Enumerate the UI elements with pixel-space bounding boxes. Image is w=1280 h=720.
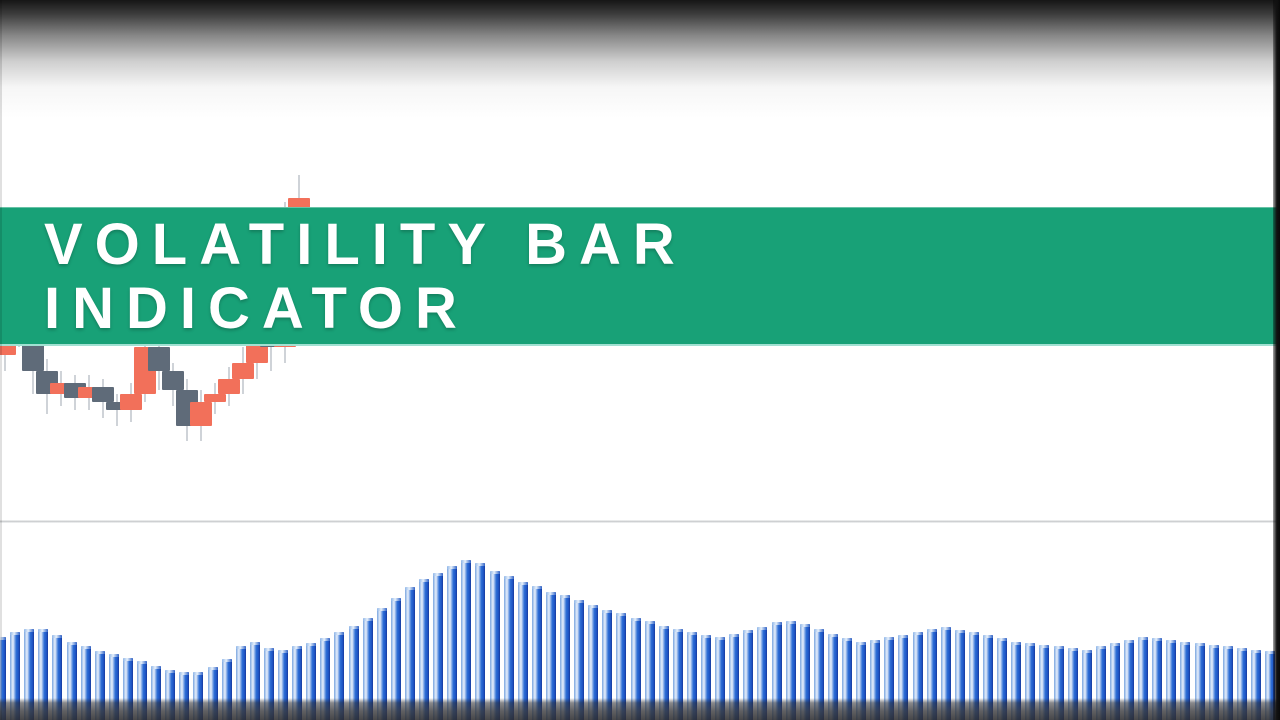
volatility-bar-cap [1068,648,1078,651]
volatility-bar [532,586,542,720]
volatility-bar [518,582,528,720]
volatility-bar-cap [137,661,147,664]
volatility-bar-cap [38,629,48,632]
volatility-bar [983,635,993,720]
volatility-bar-cap [1011,642,1021,645]
volatility-bar-cap [1251,650,1261,653]
volatility-bar-cap [504,576,514,579]
volatility-bar [701,635,711,720]
volatility-bar [222,659,232,720]
volatility-bar-cap [602,610,612,613]
volatility-bar-cap [673,629,683,632]
volatility-bar [772,622,782,720]
volatility-bar [109,654,119,720]
volatility-bar [504,576,514,720]
volatility-bar-cap [828,634,838,637]
volatility-bar [24,629,34,720]
volatility-bar-cap [1223,646,1233,649]
volatility-bar-cap [0,637,6,640]
volatility-bar-cap [1237,648,1247,651]
volatility-bar-cap [814,629,824,632]
volatility-bar-cap [560,595,570,598]
volatility-bar [786,621,796,720]
volatility-bar-cap [222,659,232,662]
volatility-bar [941,627,951,720]
volatility-bar [856,642,866,720]
volatility-bar [828,634,838,720]
volatility-bar-cap [842,638,852,641]
volatility-bar-cap [969,632,979,635]
volatility-bar [616,613,626,720]
volatility-bar [969,632,979,720]
volatility-bar [1082,650,1092,720]
volatility-bar-cap [927,629,937,632]
volatility-bar-cap [52,635,62,638]
volatility-bar-cap [1180,642,1190,645]
volatility-bar [193,672,203,720]
volatility-bar-cap [574,600,584,603]
volatility-bar [475,563,485,720]
volatility-bar-cap [264,648,274,651]
volatility-bar-cap [447,566,457,569]
volatility-bar [602,610,612,720]
volatility-bar-cap [743,630,753,633]
volatility-bar [1180,642,1190,720]
volatility-bar-cap [165,670,175,673]
volatility-bar-cap [645,621,655,624]
volatility-bar-cap [870,640,880,643]
volatility-bar [1011,642,1021,720]
volatility-bar [1110,643,1120,720]
volatility-bar [433,573,443,720]
volatility-bar [729,634,739,720]
volatility-bar [673,629,683,720]
volatility-bar [363,618,373,720]
volatility-bar-cap [772,622,782,625]
volatility-bar [208,667,218,720]
volatility-bar-cap [715,637,725,640]
volatility-bar [898,635,908,720]
volatility-bar-cap [306,643,316,646]
volatility-bar [461,560,471,720]
banner-bottom-hairline [0,344,1280,346]
volatility-bar-cap [363,618,373,621]
volatility-bar-cap [588,605,598,608]
volatility-bar [38,629,48,720]
volatility-bar [250,642,260,720]
volatility-bar [645,621,655,720]
volatility-bar [659,626,669,720]
volatility-bar [913,632,923,720]
volatility-bar-cap [687,632,697,635]
volatility-bar-cap [95,651,105,654]
volatility-bar-cap [757,627,767,630]
volatility-bar [137,661,147,720]
volatility-bar-cap [123,658,133,661]
volatility-bar-cap [1195,643,1205,646]
volatility-bar-cap [81,646,91,649]
volatility-bar [52,635,62,720]
volatility-bar [95,651,105,720]
volatility-bar [320,638,330,720]
volatility-bar-cap [1152,638,1162,641]
volatility-bar [306,643,316,720]
volatility-bar [1039,645,1049,720]
volatility-bar-cap [1025,643,1035,646]
volatility-bar-cap [1209,645,1219,648]
volatility-bar [955,630,965,720]
volatility-bar-cap [1039,645,1049,648]
volatility-bar-cap [1124,640,1134,643]
volatility-bar [391,598,401,720]
volatility-bar-cap [193,672,203,675]
volatility-bar [574,600,584,720]
volatility-bar-cap [546,592,556,595]
volatility-bar [927,629,937,720]
volatility-bar-cap [955,630,965,633]
volatility-bar [278,650,288,720]
volatility-bar [1166,640,1176,720]
volatility-bar-cap [236,646,246,649]
volatility-bar-cap [1166,640,1176,643]
volatility-bar [560,595,570,720]
volatility-bar-cap [518,582,528,585]
volatility-bar-cap [1138,637,1148,640]
volatility-bar [334,632,344,720]
volatility-bar [1251,650,1261,720]
volatility-bar [490,571,500,720]
volatility-bar [588,605,598,720]
volatility-bar [165,670,175,720]
volatility-bar-cap [278,650,288,653]
volatility-bar-cap [941,627,951,630]
title-banner: VOLATILITY BAR INDICATOR [0,207,1280,346]
volatility-bar-cap [856,642,866,645]
volatility-bar-cap [250,642,260,645]
volatility-bar [546,592,556,720]
banner-title-line-1: VOLATILITY BAR [44,216,1280,274]
volatility-bar [800,624,810,720]
volatility-bar-cap [1110,643,1120,646]
volatility-bar-cap [109,654,119,657]
volatility-bar-cap [461,560,471,563]
volatility-bar [0,637,6,720]
volatility-bar [1237,648,1247,720]
volatility-bar [1265,651,1275,720]
volatility-bar-cap [898,635,908,638]
volatility-bar-cap [616,613,626,616]
volatility-bar [814,629,824,720]
volatility-bar [419,579,429,720]
volatility-bar-cap [208,667,218,670]
volatility-bar-cap [334,632,344,635]
volatility-bar-cap [729,634,739,637]
volatility-bar-cap [292,646,302,649]
volatility-bar-cap [884,637,894,640]
volatility-bar [151,666,161,720]
volatility-bar-cap [67,642,77,645]
volatility-bar [687,632,697,720]
banner-title-line-2: INDICATOR [44,280,1280,338]
video-thumbnail-stage: VOLATILITY BAR INDICATOR [0,0,1280,720]
volatility-bar [349,626,359,720]
volatility-bar-cap [1096,646,1106,649]
volatility-bar-cap [701,635,711,638]
volatility-bar-cap [405,587,415,590]
volatility-bar-cap [24,629,34,632]
volatility-indicator-panel [0,523,1280,720]
volatility-bar [1195,643,1205,720]
volatility-bar-cap [1054,646,1064,649]
volatility-bar [236,646,246,720]
volatility-bar-cap [800,624,810,627]
volatility-bar [405,587,415,720]
volatility-bar-cap [997,638,1007,641]
volatility-bar [1209,645,1219,720]
volatility-bar-cap [349,626,359,629]
volatility-bar [292,646,302,720]
volatility-bar-cap [1082,650,1092,653]
volatility-bar [123,658,133,720]
volatility-bar [10,632,20,720]
volatility-bar [1223,646,1233,720]
volatility-bar [757,627,767,720]
volatility-bar [67,642,77,720]
volatility-bar [631,618,641,720]
volatility-bar [715,637,725,720]
banner-top-hairline [0,207,1280,208]
volatility-bar [1054,646,1064,720]
volatility-bar-cap [377,608,387,611]
volatility-bar [1124,640,1134,720]
candle-wick [116,394,118,425]
volatility-bar-cap [433,573,443,576]
volatility-bar-cap [320,638,330,641]
volatility-bar [1096,646,1106,720]
volatility-bar-cap [532,586,542,589]
volatility-bar [179,672,189,720]
volatility-bar [870,640,880,720]
volatility-bar [447,566,457,720]
volatility-bar [1152,638,1162,720]
volatility-bar [1068,648,1078,720]
volatility-bar-cap [490,571,500,574]
volatility-bar-cap [983,635,993,638]
volatility-bar [884,637,894,720]
volatility-bar [1025,643,1035,720]
volatility-bar-cap [1265,651,1275,654]
volatility-bar [81,646,91,720]
volatility-bar-cap [419,579,429,582]
volatility-bar-cap [10,632,20,635]
volatility-bar [264,648,274,720]
volatility-bar [842,638,852,720]
volatility-bar-cap [151,666,161,669]
volatility-bar [377,608,387,720]
volatility-bar-cap [179,672,189,675]
volatility-bar-cap [786,621,796,624]
volatility-bar-cap [631,618,641,621]
volatility-bar-cap [659,626,669,629]
volatility-bar-cap [391,598,401,601]
volatility-bar [743,630,753,720]
volatility-bar-cap [913,632,923,635]
volatility-bar-cap [475,563,485,566]
volatility-bar [997,638,1007,720]
volatility-bar [1138,637,1148,720]
